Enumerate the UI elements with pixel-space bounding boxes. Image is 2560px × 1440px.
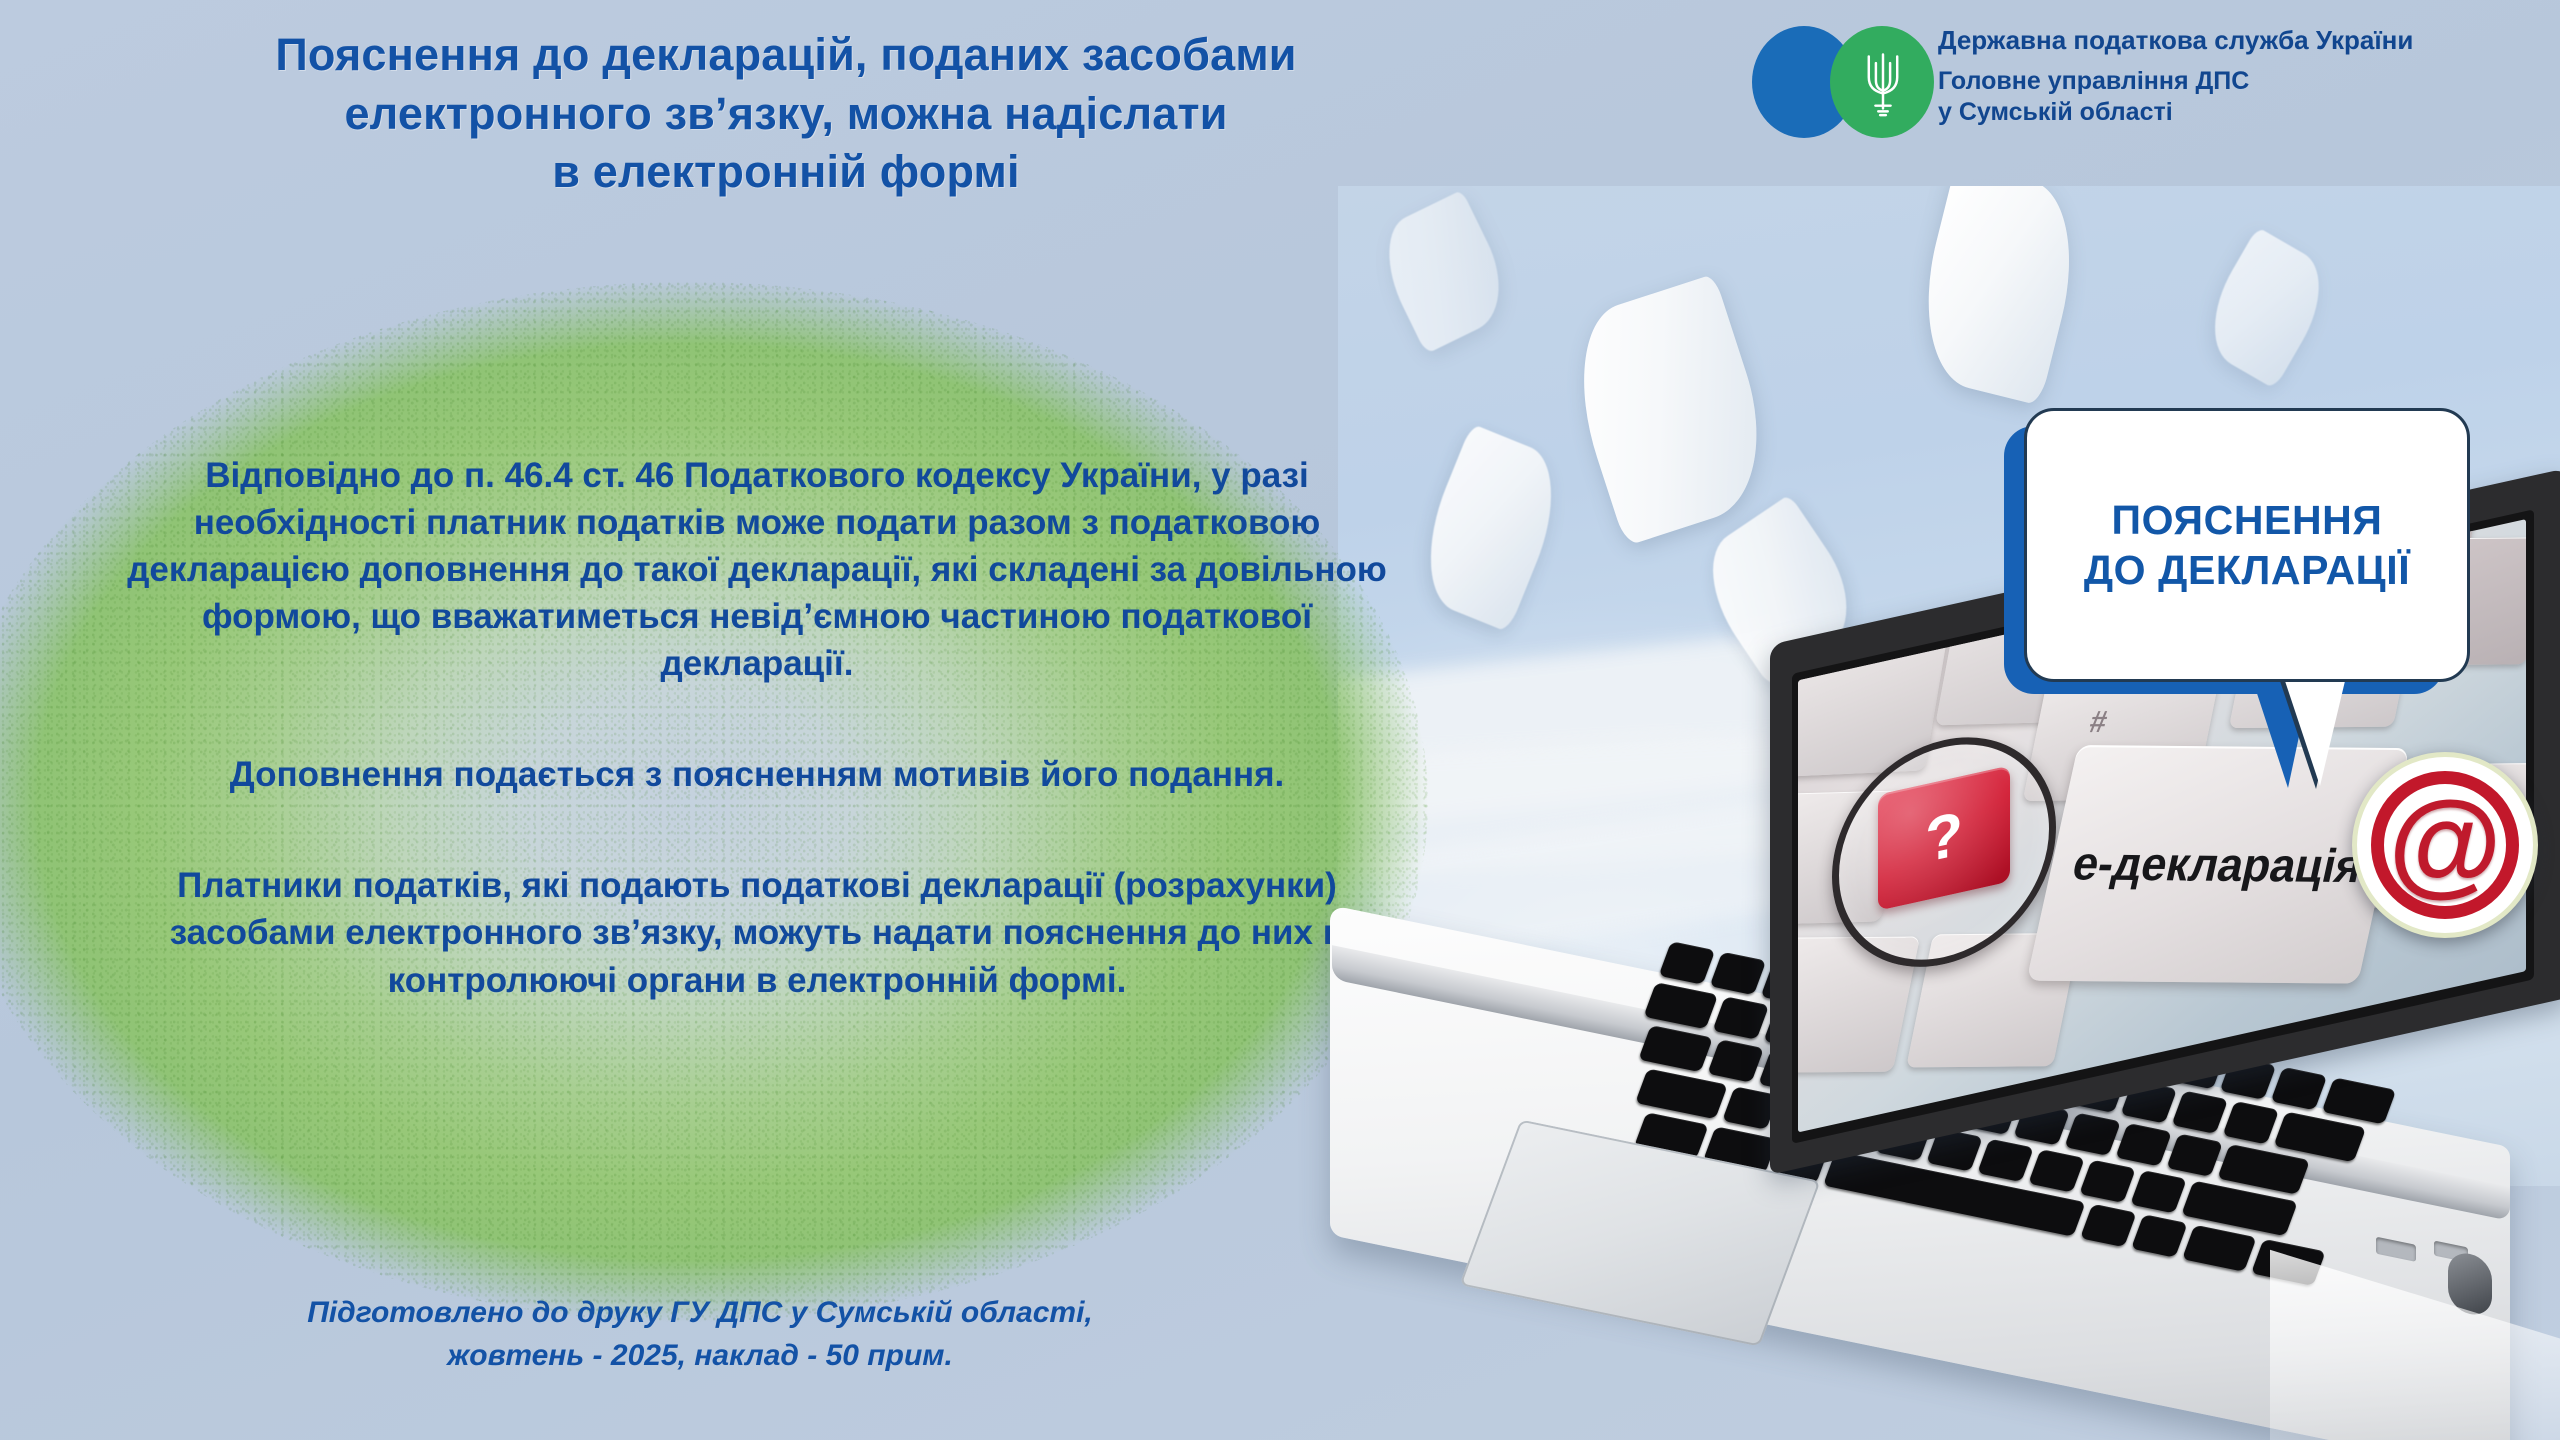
paragraph-spacer (112, 832, 1402, 862)
flying-paper-sheet (1554, 274, 1785, 547)
callout-speech-bubble: ПОЯСНЕННЯ ДО ДЕКЛАРАЦІЇ (2020, 408, 2480, 738)
page-title: Пояснення до декларацій, поданих засобам… (46, 26, 1526, 202)
title-line-1: Пояснення до декларацій, поданих засобам… (46, 26, 1526, 85)
bubble-line-1: ПОЯСНЕННЯ (2084, 495, 2410, 545)
at-symbol-icon: @ (2388, 784, 2501, 900)
logo-text-block: Державна податкова служба України Головн… (1938, 20, 2413, 129)
e-declaration-key-label: е-декларація (2068, 835, 2368, 893)
body-paragraph-1: Відповідно до п. 46.4 ст. 46 Податкового… (112, 452, 1402, 687)
paragraph-spacer (112, 721, 1402, 751)
flying-paper-sheet (2191, 227, 2340, 389)
organization-logo: Державна податкова служба України Головн… (1752, 20, 2413, 138)
bubble-text: ПОЯСНЕННЯ ДО ДЕКЛАРАЦІЇ (2070, 495, 2424, 595)
poster-canvas: Пояснення до декларацій, поданих засобам… (0, 0, 2560, 1440)
body-paragraph-3: Платники податків, які подають податкові… (112, 862, 1402, 1003)
footer-imprint: Підготовлено до друку ГУ ДПС у Сумській … (150, 1292, 1250, 1377)
title-line-3: в електронній формі (46, 143, 1526, 202)
body-paragraph-2: Доповнення подається з поясненням мотиві… (112, 751, 1402, 798)
flying-paper-sheet (1368, 190, 1519, 354)
footer-line-2: жовтень - 2025, наклад - 50 прим. (150, 1335, 1250, 1378)
body-text-block: Відповідно до п. 46.4 ст. 46 Податкового… (112, 452, 1402, 1004)
title-line-2: електронного зв’язку, можна надіслати (46, 85, 1526, 144)
logo-org-line-3: у Сумській області (1938, 97, 2413, 129)
footer-line-1: Підготовлено до друку ГУ ДПС у Сумській … (150, 1292, 1250, 1335)
flying-paper-sheet (1904, 186, 2092, 406)
email-at-badge: @ (2352, 752, 2538, 938)
logo-org-line-1: Державна податкова служба України (1938, 24, 2413, 57)
bubble-body: ПОЯСНЕННЯ ДО ДЕКЛАРАЦІЇ (2024, 408, 2470, 682)
logo-marks (1752, 20, 1938, 138)
logo-org-line-2: Головне управління ДПС (1938, 66, 2413, 98)
e-declaration-key: е-декларація (2026, 745, 2409, 984)
bubble-line-2: ДО ДЕКЛАРАЦІЇ (2084, 545, 2410, 595)
ukraine-trident-icon (1862, 46, 1904, 118)
